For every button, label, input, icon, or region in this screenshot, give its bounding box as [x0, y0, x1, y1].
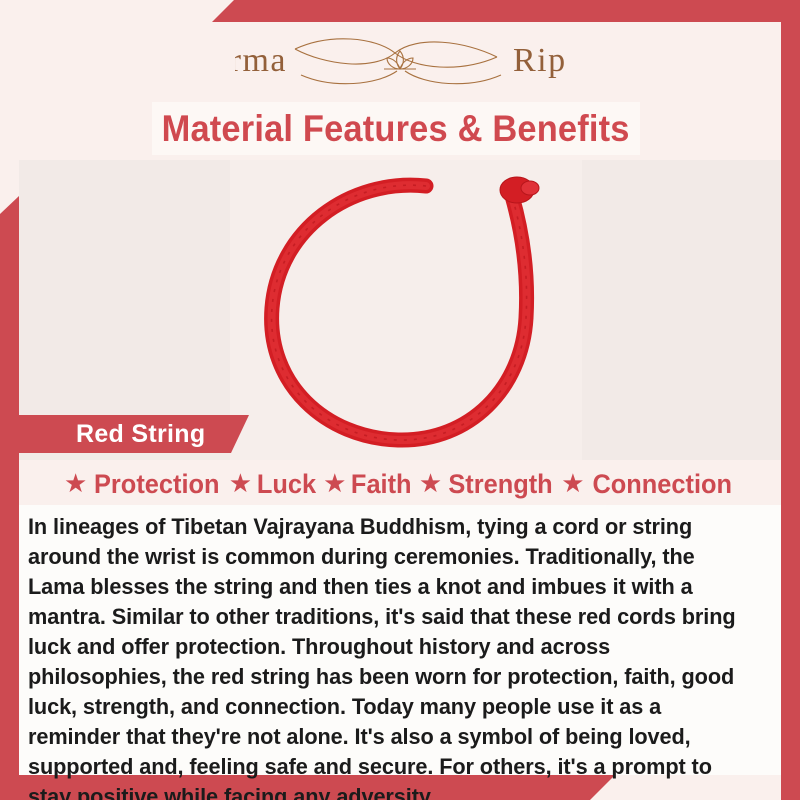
product-info-poster: Karma Ripple Material Features & Benefit… — [0, 0, 800, 800]
benefit-item-faith: ★ Faith — [323, 469, 414, 500]
benefit-label: Faith — [351, 469, 412, 500]
star-icon: ★ — [561, 470, 584, 496]
product-photo — [230, 160, 582, 460]
star-icon: ★ — [323, 470, 346, 496]
benefit-item-strength: ★ Strength — [419, 469, 556, 500]
product-label-banner: Red String — [19, 415, 249, 453]
benefit-label: Luck — [257, 469, 316, 500]
description-panel: In lineages of Tibetan Vajrayana Buddhis… — [19, 505, 781, 775]
page-title: Material Features & Benefits — [162, 108, 630, 150]
benefit-label: Connection — [592, 469, 732, 500]
decorative-right-red-strip — [781, 22, 800, 800]
benefits-list: ★ Protection ★ Luck ★ Faith ★ Strength ★… — [19, 466, 781, 502]
benefit-item-protection: ★ Protection — [64, 469, 224, 500]
brand-name-left: Karma — [235, 42, 287, 79]
benefit-item-luck: ★ Luck — [229, 469, 318, 500]
page-title-band: Material Features & Benefits — [152, 102, 640, 155]
description-text: In lineages of Tibetan Vajrayana Buddhis… — [28, 512, 743, 800]
decorative-top-red-bar — [212, 0, 800, 22]
product-label: Red String — [19, 420, 205, 449]
benefit-item-connection: ★ Connection — [561, 469, 736, 500]
benefit-label: Strength — [449, 469, 553, 500]
decorative-left-red-strip — [0, 196, 19, 782]
brand-logo: Karma Ripple — [0, 28, 800, 96]
star-icon: ★ — [419, 470, 442, 496]
benefit-label: Protection — [94, 469, 220, 500]
star-icon: ★ — [229, 470, 252, 496]
star-icon: ★ — [64, 470, 87, 496]
brand-name-right: Ripple — [513, 42, 565, 79]
